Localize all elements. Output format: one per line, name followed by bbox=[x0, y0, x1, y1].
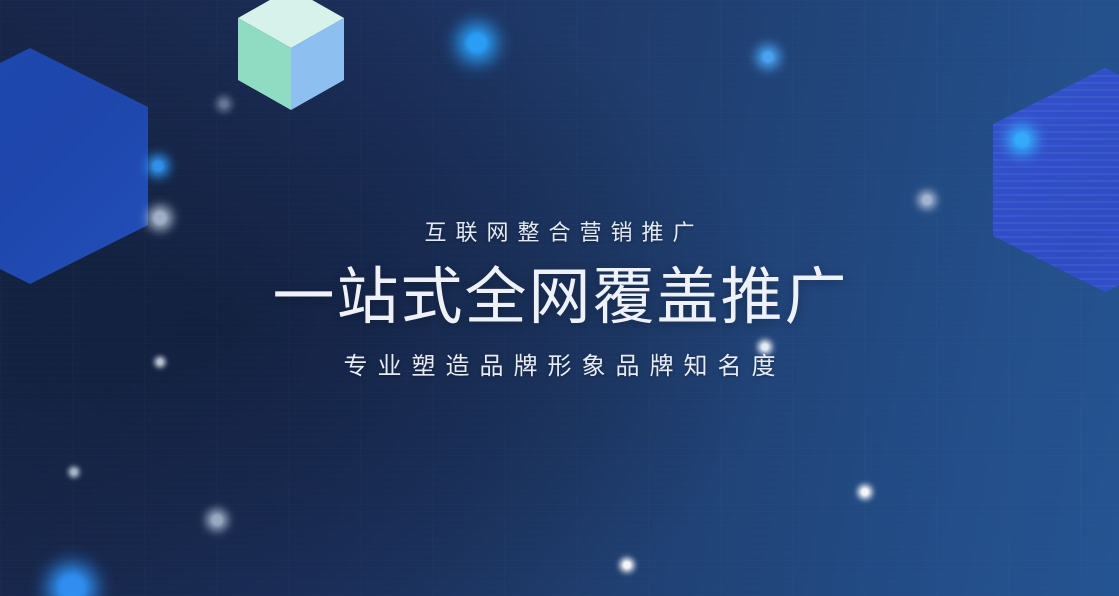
glow-dot-tiny-left-lower bbox=[71, 469, 77, 475]
glow-dot-large-top-center bbox=[466, 32, 488, 54]
glow-dot-faint-upper-left bbox=[220, 100, 228, 108]
glow-dot-left-hex-edge bbox=[152, 160, 164, 172]
glow-dot-white-bottom-right bbox=[861, 488, 869, 496]
glow-dot-right-upper bbox=[1014, 132, 1030, 148]
banner-tagline: 专业塑造品牌形象品牌知名度 bbox=[0, 350, 1119, 384]
glow-dot-bright-bottom-left bbox=[57, 573, 87, 596]
banner-text-block: 互联网整合营销推广 一站式全网覆盖推广 专业塑造品牌形象品牌知名度 bbox=[0, 218, 1119, 384]
glow-dot-small-top-right bbox=[762, 51, 774, 63]
glow-dot-pale-right bbox=[922, 195, 932, 205]
glow-dot-pale-lower-left bbox=[211, 514, 223, 526]
glow-dot-white-bottom-mid bbox=[623, 561, 631, 569]
banner-headline: 一站式全网覆盖推广 bbox=[0, 261, 1119, 334]
cube-logo bbox=[238, 0, 344, 110]
banner-eyebrow: 互联网整合营销推广 bbox=[0, 218, 1119, 249]
banner-stage: 互联网整合营销推广 一站式全网覆盖推广 专业塑造品牌形象品牌知名度 bbox=[0, 0, 1119, 596]
